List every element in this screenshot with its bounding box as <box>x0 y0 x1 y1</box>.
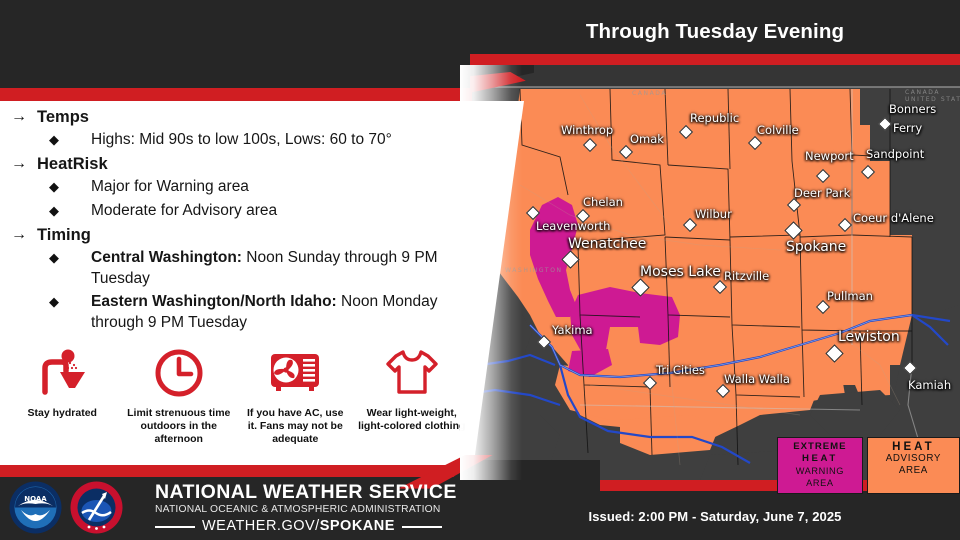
legend-extreme-heat-warning: EXTREME HEAT WARNING AREA <box>777 437 863 494</box>
bullet-group-0: →Temps <box>8 106 470 128</box>
legend-advisory-line1: HEAT <box>876 441 951 453</box>
bullet-group-2: →Timing <box>8 224 470 246</box>
city-label: Pullman <box>827 290 873 302</box>
issued-timestamp: Issued: 2:00 PM - Saturday, June 7, 2025 <box>470 509 960 524</box>
safety-tips-row: Stay hydrated Limit strenuous time outdo… <box>4 342 470 464</box>
bullet-text: Highs: Mid 90s to low 100s, Lows: 60 to … <box>91 129 392 150</box>
legend-heat-advisory: HEAT ADVISORY AREA <box>867 437 960 494</box>
tip-stay-hydrated: Stay hydrated <box>4 342 121 464</box>
city-label: Wilbur <box>695 208 732 220</box>
bullet-text: Major for Warning area <box>91 176 249 197</box>
tip-limit-strenuous-activity: Limit strenuous time outdoors in the aft… <box>121 342 238 464</box>
diamond-bullet-icon: ◆ <box>8 247 91 269</box>
bullet-heading: Timing <box>37 224 91 246</box>
clock-icon <box>152 342 206 404</box>
tip-wear-light-clothing: Wear light-weight, light-colored clothin… <box>354 342 471 464</box>
city-label: Leavenworth <box>536 220 610 232</box>
agency-url[interactable]: WEATHER.GOV/SPOKANE <box>155 517 457 536</box>
footer-accent-bar <box>0 465 462 477</box>
header-accent-bar <box>0 88 472 101</box>
city-label: Ferry <box>893 122 922 134</box>
bullet-item: ◆Central Washington: Noon Sunday through… <box>8 247 470 289</box>
bullet-item: ◆Major for Warning area <box>8 176 470 198</box>
city-label: Walla Walla <box>724 373 790 385</box>
bullet-list: →Temps◆Highs: Mid 90s to low 100s, Lows:… <box>8 106 470 335</box>
map-border-label: UNITED STATES <box>905 94 960 106</box>
tshirt-icon <box>384 342 440 404</box>
noaa-seal-icon: NOAA <box>8 480 63 535</box>
city-label: Coeur d'Alene <box>853 212 934 224</box>
rule-left <box>155 526 195 528</box>
bullet-text: Moderate for Advisory area <box>91 200 277 221</box>
tip-caption: Stay hydrated <box>24 407 101 420</box>
agency-title: NATIONAL WEATHER SERVICE <box>155 481 457 503</box>
city-label: Wenatchee <box>568 238 646 250</box>
legend-extreme-line2: HEAT <box>786 453 854 465</box>
diamond-bullet-icon: ◆ <box>8 176 91 198</box>
bullet-item: ◆Eastern Washington/North Idaho: Noon Mo… <box>8 291 470 333</box>
map-legend: EXTREME HEAT WARNING AREA HEAT ADVISORY … <box>777 437 960 494</box>
bullet-heading: Temps <box>37 106 89 128</box>
city-label: Moses Lake <box>640 266 721 278</box>
tip-caption: Wear light-weight, light-colored clothin… <box>354 407 471 433</box>
rule-right <box>402 526 442 528</box>
tip-caption: If you have AC, use it. Fans may not be … <box>237 407 354 446</box>
bullet-text: Eastern Washington/North Idaho: Noon Mon… <box>91 291 470 333</box>
city-label: Deer Park <box>794 187 850 199</box>
city-label: Tri Cities <box>656 364 705 376</box>
bullet-heading: HeatRisk <box>37 153 108 175</box>
map-top-accent-bar <box>452 54 960 65</box>
svg-text:NOAA: NOAA <box>24 495 47 503</box>
map-title: Through Tuesday Evening <box>470 20 960 44</box>
diamond-bullet-icon: ◆ <box>8 200 91 222</box>
tip-use-air-conditioning: If you have AC, use it. Fans may not be … <box>237 342 354 464</box>
city-label: Sandpoint <box>866 148 924 160</box>
city-label: Ritzville <box>724 270 769 282</box>
legend-extreme-line1: EXTREME <box>786 441 854 453</box>
tip-caption: Limit strenuous time outdoors in the aft… <box>121 407 238 446</box>
city-label: Colville <box>757 124 799 136</box>
city-label: Chelan <box>583 196 623 208</box>
bullet-text: Central Washington: Noon Sunday through … <box>91 247 470 289</box>
bullet-item: ◆Moderate for Advisory area <box>8 200 470 222</box>
city-label: Spokane <box>786 241 846 253</box>
bullet-item: ◆Highs: Mid 90s to low 100s, Lows: 60 to… <box>8 129 470 151</box>
city-label: Omak <box>630 133 664 145</box>
water-fountain-icon <box>35 342 89 404</box>
city-label: Yakima <box>552 324 593 336</box>
diamond-bullet-icon: ◆ <box>8 291 91 313</box>
city-label: Newport <box>805 150 854 162</box>
arrow-bullet-icon: → <box>8 224 37 246</box>
city-label: Kamiah <box>908 379 951 391</box>
agency-url-prefix: WEATHER.GOV/ <box>202 518 320 534</box>
legend-extreme-line3: WARNING AREA <box>786 465 854 489</box>
agency-logos: NOAA <box>8 480 124 535</box>
arrow-bullet-icon: → <box>8 153 37 175</box>
agency-subtitle: NATIONAL OCEANIC & ATMOSPHERIC ADMINISTR… <box>155 503 457 516</box>
map-border-label: CANADA <box>632 88 667 100</box>
arrow-bullet-icon: → <box>8 106 37 128</box>
nws-seal-icon <box>69 480 124 535</box>
city-label: Winthrop <box>561 124 613 136</box>
agency-url-office: SPOKANE <box>320 518 395 534</box>
bullet-group-1: →HeatRisk <box>8 153 470 175</box>
city-label: Lewiston <box>838 331 900 343</box>
weather-graphic: WinthropOmakRepublicColvilleBonnersFerry… <box>0 0 960 540</box>
diamond-bullet-icon: ◆ <box>8 129 91 151</box>
city-label: Republic <box>690 112 739 124</box>
air-conditioner-fan-icon <box>267 342 323 404</box>
left-panel-header <box>0 0 470 88</box>
map-border-label: WASHINGTON <box>505 265 563 277</box>
agency-wordmark: NATIONAL WEATHER SERVICE NATIONAL OCEANI… <box>155 481 457 536</box>
legend-advisory-line3: ADVISORY AREA <box>876 453 951 477</box>
